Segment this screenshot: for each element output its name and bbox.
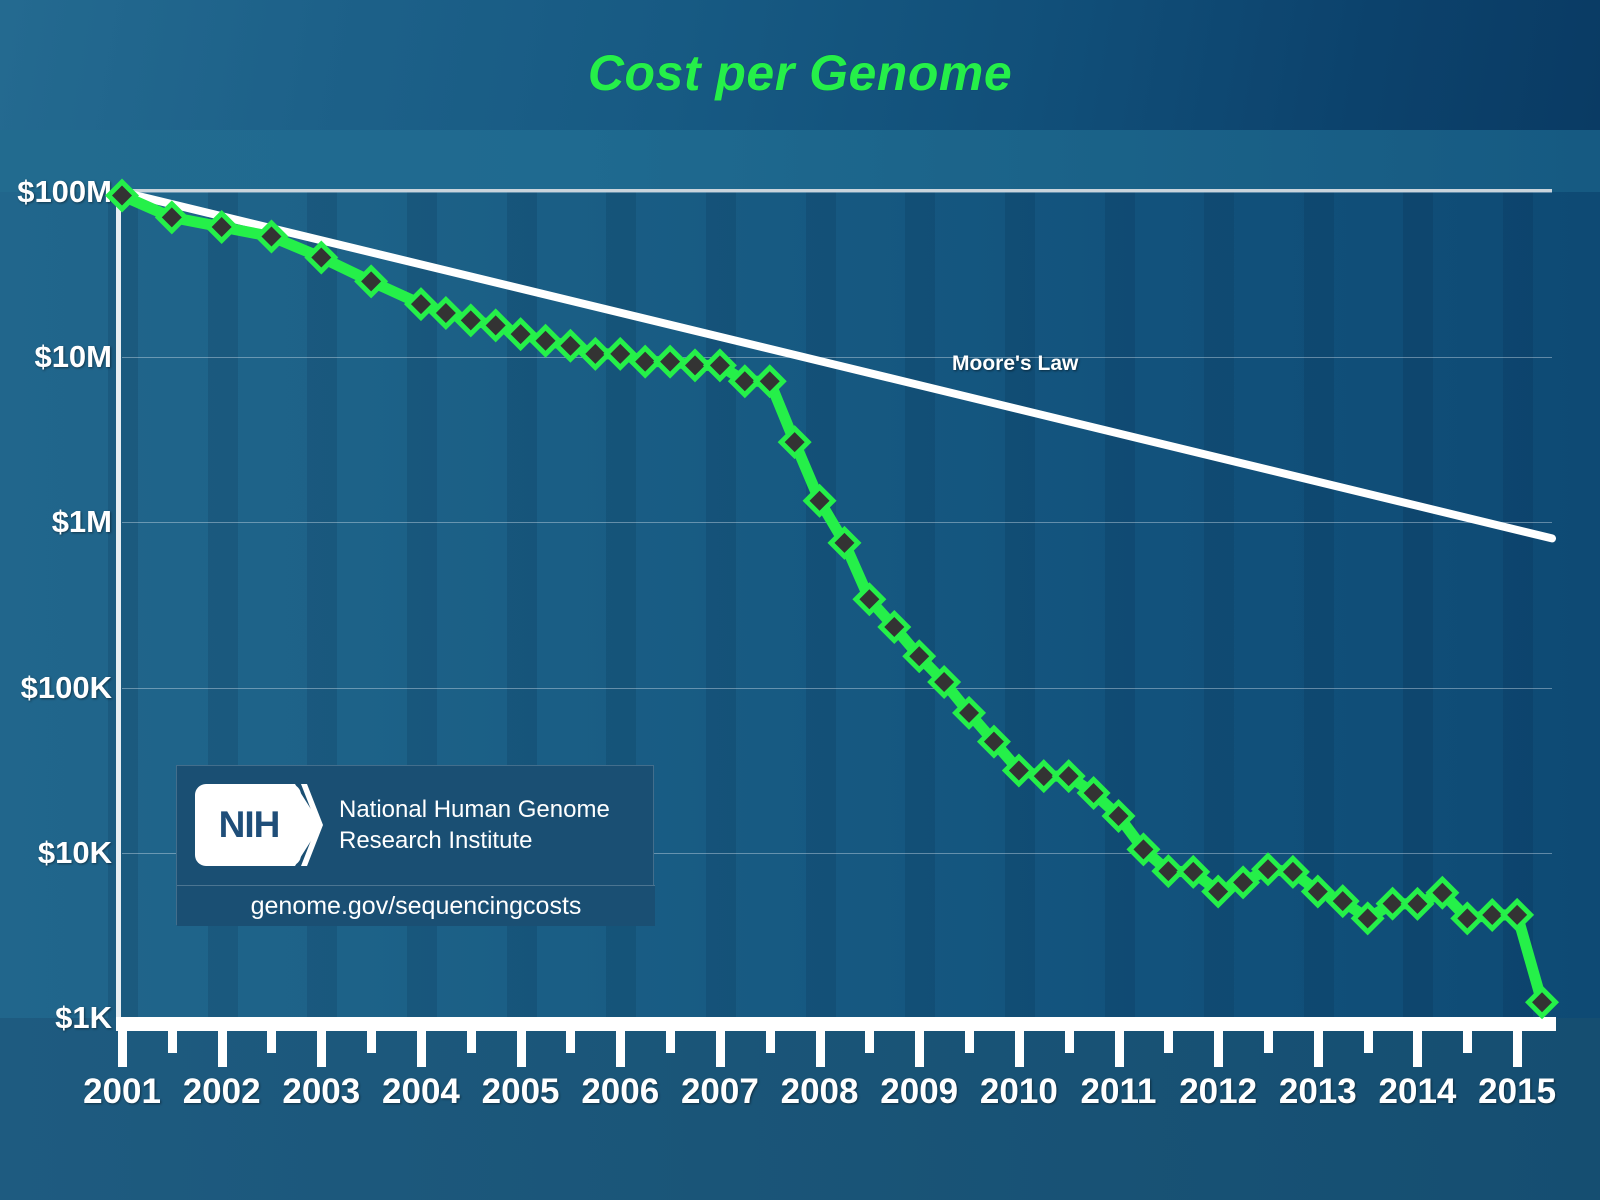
org-name: National Human Genome Research Institute [339,794,610,856]
org-name-line1: National Human Genome [339,794,610,825]
nih-logo-icon: NIH [195,784,323,866]
nhgri-logo-block: NIH National Human Genome Research Insti… [176,765,654,925]
org-name-line2: Research Institute [339,825,610,856]
moores-law-line [122,192,1552,538]
chart-canvas: Cost per Genome $100M$10M$1M$100K$10K$1K… [0,0,1600,1200]
logo-url-label: genome.gov/sequencingcosts [177,885,655,926]
series-overlay [0,0,1600,1200]
chevron-right-icon [273,784,323,866]
logo-row: NIH National Human Genome Research Insti… [177,766,655,884]
moores-law-annotation: Moore's Law [952,352,1078,376]
